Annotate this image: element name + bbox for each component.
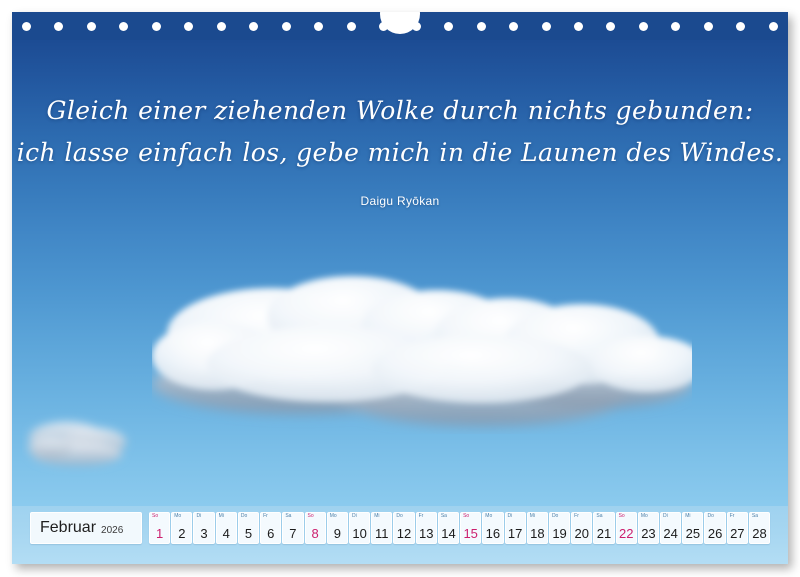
binding-hole: [282, 22, 291, 31]
day-cell[interactable]: Fr6: [260, 512, 281, 544]
day-cell[interactable]: Di24: [660, 512, 681, 544]
day-cell[interactable]: Sa21: [593, 512, 614, 544]
day-number: 25: [683, 527, 702, 541]
day-number: 26: [705, 527, 724, 541]
binding-hole: [606, 22, 615, 31]
day-of-week-label: Sa: [752, 513, 758, 520]
day-cell[interactable]: Do19: [549, 512, 570, 544]
day-number: 22: [617, 527, 636, 541]
day-of-week-label: Fr: [730, 513, 735, 520]
binding-hole: [736, 22, 745, 31]
day-number: 1: [150, 527, 169, 541]
day-of-week-label: Do: [241, 513, 247, 520]
day-cell[interactable]: So8: [305, 512, 326, 544]
day-cell[interactable]: Mi11: [371, 512, 392, 544]
day-of-week-label: Do: [552, 513, 558, 520]
day-number: 19: [550, 527, 569, 541]
day-number: 13: [417, 527, 436, 541]
binding-hole: [671, 22, 680, 31]
day-cell[interactable]: Di10: [349, 512, 370, 544]
binding-hole: [542, 22, 551, 31]
day-of-week-label: Sa: [285, 513, 291, 520]
day-number: 8: [306, 527, 325, 541]
day-cell[interactable]: Sa7: [282, 512, 303, 544]
binding-hole: [509, 22, 518, 31]
day-number: 3: [194, 527, 213, 541]
binding-hole: [347, 22, 356, 31]
calendar-sheet: Gleich einer ziehenden Wolke durch nicht…: [12, 12, 788, 564]
day-of-week-label: Sa: [596, 513, 602, 520]
day-of-week-label: Mo: [174, 513, 181, 520]
day-cell[interactable]: Fr20: [571, 512, 592, 544]
day-of-week-label: Mo: [641, 513, 648, 520]
day-of-week-label: Mi: [530, 513, 535, 520]
cover-photo: Gleich einer ziehenden Wolke durch nicht…: [12, 12, 788, 564]
binding-hole: [152, 22, 161, 31]
day-number: 9: [328, 527, 347, 541]
day-cell[interactable]: Di3: [193, 512, 214, 544]
day-cell[interactable]: Fr27: [727, 512, 748, 544]
day-cell[interactable]: Mo9: [327, 512, 348, 544]
day-cell[interactable]: Mi25: [682, 512, 703, 544]
day-cell[interactable]: So15: [460, 512, 481, 544]
binding-hole: [54, 22, 63, 31]
day-of-week-label: Mi: [374, 513, 379, 520]
day-number: 28: [750, 527, 769, 541]
day-number: 23: [639, 527, 658, 541]
day-cell[interactable]: So22: [616, 512, 637, 544]
calendar-strip: Februar 2026 So1Mo2Di3Mi4Do5Fr6Sa7So8Mo9…: [12, 506, 788, 564]
month-label: Februar 2026: [30, 512, 142, 544]
day-of-week-label: Di: [508, 513, 513, 520]
binding-hole: [249, 22, 258, 31]
day-cell[interactable]: Do12: [393, 512, 414, 544]
day-of-week-label: Mo: [485, 513, 492, 520]
binding-hole: [477, 22, 486, 31]
day-cell[interactable]: Fr13: [416, 512, 437, 544]
day-number: 11: [372, 527, 391, 541]
quote-author: Daigu Ryōkan: [12, 194, 788, 208]
small-wispy-cloud: [22, 410, 142, 482]
day-number: 6: [261, 527, 280, 541]
day-number: 12: [394, 527, 413, 541]
binding-hole: [639, 22, 648, 31]
day-number: 15: [461, 527, 480, 541]
binding-hole: [444, 22, 453, 31]
quote-block: Gleich einer ziehenden Wolke durch nicht…: [12, 90, 788, 208]
day-cell[interactable]: Mo23: [638, 512, 659, 544]
day-number: 18: [528, 527, 547, 541]
day-number: 7: [283, 527, 302, 541]
binding-hole: [314, 22, 323, 31]
day-of-week-label: Do: [707, 513, 713, 520]
day-of-week-label: So: [152, 513, 158, 520]
day-of-week-label: Mi: [685, 513, 690, 520]
day-of-week-label: So: [619, 513, 625, 520]
binding-hole: [217, 22, 226, 31]
day-number: 16: [483, 527, 502, 541]
day-of-week-label: So: [463, 513, 469, 520]
day-cell[interactable]: Mo16: [482, 512, 503, 544]
binding-hole: [22, 22, 31, 31]
day-number: 4: [217, 527, 236, 541]
day-number: 2: [172, 527, 191, 541]
day-cell[interactable]: Di17: [505, 512, 526, 544]
day-cell[interactable]: Do26: [704, 512, 725, 544]
quote-line-2: ich lasse einfach los, gebe mich in die …: [12, 132, 788, 174]
day-number: 21: [594, 527, 613, 541]
day-cell[interactable]: So1: [149, 512, 170, 544]
month-name: Februar: [40, 519, 96, 537]
day-cell[interactable]: Mi4: [216, 512, 237, 544]
day-cell[interactable]: Sa14: [438, 512, 459, 544]
day-number: 20: [572, 527, 591, 541]
day-of-week-label: So: [308, 513, 314, 520]
binding-hole: [87, 22, 96, 31]
day-of-week-label: Fr: [419, 513, 424, 520]
day-of-week-label: Mi: [219, 513, 224, 520]
day-cell[interactable]: Mi18: [527, 512, 548, 544]
day-of-week-label: Fr: [263, 513, 268, 520]
day-of-week-label: Di: [196, 513, 201, 520]
day-of-week-label: Di: [663, 513, 668, 520]
day-of-week-label: Do: [396, 513, 402, 520]
binding-hole: [574, 22, 583, 31]
day-number: 24: [661, 527, 680, 541]
main-cumulus-cloud: [152, 264, 692, 434]
day-of-week-label: Di: [352, 513, 357, 520]
day-number: 10: [350, 527, 369, 541]
day-cells: So1Mo2Di3Mi4Do5Fr6Sa7So8Mo9Di10Mi11Do12F…: [149, 512, 770, 544]
day-cell[interactable]: Do5: [238, 512, 259, 544]
day-of-week-label: Mo: [330, 513, 337, 520]
day-cell[interactable]: Mo2: [171, 512, 192, 544]
day-number: 5: [239, 527, 258, 541]
binding-hole: [119, 22, 128, 31]
day-number: 27: [728, 527, 747, 541]
month-year: 2026: [101, 521, 123, 536]
binding-hole: [704, 22, 713, 31]
quote-line-1: Gleich einer ziehenden Wolke durch nicht…: [12, 90, 788, 132]
binding-hole: [184, 22, 193, 31]
day-cell[interactable]: Sa28: [749, 512, 770, 544]
binding-hole: [769, 22, 778, 31]
day-number: 17: [506, 527, 525, 541]
day-number: 14: [439, 527, 458, 541]
day-of-week-label: Fr: [574, 513, 579, 520]
day-of-week-label: Sa: [441, 513, 447, 520]
